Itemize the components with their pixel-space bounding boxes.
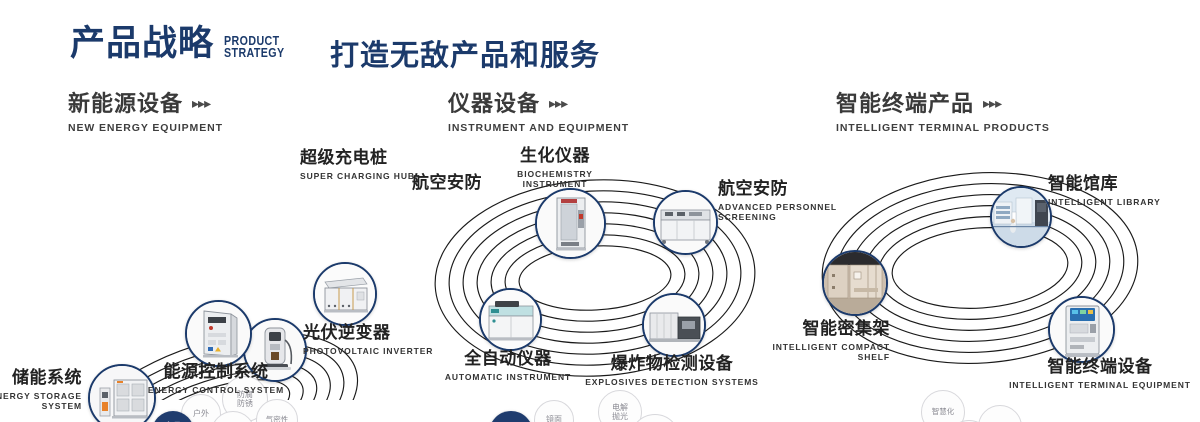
product-circle-compact-shelf[interactable] — [822, 250, 888, 316]
product-label-compact-shelf-en: INTELLIGENT COMPACT SHELF — [710, 342, 890, 363]
section-title-cn-text-3: 智能终端产品 — [836, 93, 974, 117]
feature-bubble-2-1: 镜面 — [534, 400, 574, 422]
explosives-detector-icon — [644, 295, 704, 355]
product-label-compact-shelf-en1: INTELLIGENT COMPACT — [710, 342, 890, 353]
page-title: 产品战略 — [70, 27, 214, 62]
section-title-cn-1: 新能源设备 ▸▸▸ — [68, 93, 223, 117]
section-title-cn-3: 智能终端产品 ▸▸▸ — [836, 93, 1050, 117]
product-label-energy-control-en: ENERGY CONTROL SYSTEM — [86, 385, 346, 396]
headline: 打造无敌产品和服务 — [330, 32, 600, 74]
control-cabinet-icon — [187, 302, 250, 365]
product-label-terminal-equipment: 智能终端设备 INTELLIGENT TERMINAL EQUIPMENT — [985, 358, 1200, 390]
product-label-energy-storage-en1: ENERGY STORAGE — [0, 391, 82, 402]
feature-bubble-1-2-line2: 防锈 — [237, 399, 253, 408]
biochemistry-instrument-icon — [537, 190, 604, 257]
feature-bubble-2-2-line2: 抛光 — [612, 412, 628, 421]
section-title-en-3: INTELLIGENT TERMINAL PRODUCTS — [836, 122, 1050, 134]
product-label-compact-shelf: 智能密集架 INTELLIGENT COMPACT SHELF — [710, 320, 890, 363]
product-label-intelligent-library-cn: 智能馆库 — [1048, 175, 1200, 195]
product-strategy-infographic: 产品战略 PRODUCT STRATEGY 打造无敌产品和服务 新能源设备 ▸▸… — [0, 0, 1200, 422]
product-label-compact-shelf-en2: SHELF — [710, 352, 890, 363]
chevrons-icon-3: ▸▸▸ — [983, 97, 1001, 112]
product-label-biochemistry-cn: 生化仪器 — [450, 147, 660, 167]
cluster-intelligent-terminal: 智慧化 数字化 人性化 产品 特点 — [790, 150, 1200, 400]
product-label-biochemistry-en1: BIOCHEMISTRY — [450, 169, 660, 180]
product-circle-pv-inverter[interactable] — [313, 262, 377, 326]
brand-lockup: 产品战略 PRODUCT STRATEGY — [70, 27, 298, 62]
section-header-instruments: 仪器设备 ▸▸▸ INSTRUMENT AND EQUIPMENT — [448, 93, 629, 134]
page-header: 产品战略 PRODUCT STRATEGY 打造无敌产品和服务 — [0, 0, 1200, 86]
product-circle-personnel-screening[interactable] — [653, 190, 718, 255]
section-header-intelligent-terminal: 智能终端产品 ▸▸▸ INTELLIGENT TERMINAL PRODUCTS — [836, 93, 1050, 134]
feature-bubble-2-2-line1: 电解 — [612, 403, 628, 412]
pv-inverter-icon — [315, 264, 375, 324]
library-room-icon — [992, 188, 1050, 246]
product-label-energy-control: 能源控制系统 ENERGY CONTROL SYSTEM — [86, 363, 346, 395]
feature-bubble-3-3: 人性化 — [978, 405, 1022, 422]
product-circle-intelligent-library[interactable] — [990, 186, 1052, 248]
product-label-compact-shelf-cn: 智能密集架 — [710, 320, 890, 340]
product-circle-energy-control[interactable] — [185, 300, 252, 367]
product-circle-explosives-detection[interactable] — [642, 293, 706, 357]
chevrons-icon-1: ▸▸▸ — [192, 97, 210, 112]
feature-bubble-1-1-text: 户外 — [193, 409, 209, 418]
product-label-terminal-equipment-cn: 智能终端设备 — [985, 358, 1200, 378]
product-label-energy-storage: 储能系统 ENERGY STORAGE SYSTEM — [0, 369, 82, 412]
core-badge-2: 产品 特点 — [489, 411, 533, 422]
brand-subtitle-line2: STRATEGY — [224, 47, 285, 59]
section-title-cn-2: 仪器设备 ▸▸▸ — [448, 93, 629, 117]
feature-bubble-3-1-text: 智慧化 — [932, 408, 955, 417]
personnel-screening-icon — [655, 192, 716, 253]
compact-shelf-icon — [824, 252, 886, 314]
product-label-biochemistry: 生化仪器 BIOCHEMISTRY INSTRUMENT — [450, 147, 660, 190]
section-title-en-2: INSTRUMENT AND EQUIPMENT — [448, 122, 629, 134]
section-title-cn-text-2: 仪器设备 — [448, 93, 540, 117]
product-circle-biochemistry[interactable] — [535, 188, 606, 259]
automatic-instrument-icon — [481, 290, 540, 349]
cluster-new-energy: 户外 防腐 防锈 防水 防尘 气密性 产品 特点 — [0, 150, 420, 400]
product-label-terminal-equipment-en: INTELLIGENT TERMINAL EQUIPMENT — [985, 380, 1200, 391]
section-title-cn-text-1: 新能源设备 — [68, 93, 183, 117]
product-label-energy-storage-cn: 储能系统 — [0, 369, 82, 389]
section-title-en-1: NEW ENERGY EQUIPMENT — [68, 122, 223, 134]
product-circle-terminal-equipment[interactable] — [1048, 296, 1115, 363]
product-label-biochemistry-en2: INSTRUMENT — [450, 179, 660, 190]
brand-subtitle: PRODUCT STRATEGY — [224, 35, 285, 62]
product-label-intelligent-library-en: INTELLIGENT LIBRARY — [1048, 197, 1200, 208]
chevrons-icon-2: ▸▸▸ — [549, 97, 567, 112]
product-label-explosives-detection-en: EXPLOSIVES DETECTION SYSTEMS — [562, 377, 782, 388]
section-header-new-energy: 新能源设备 ▸▸▸ NEW ENERGY EQUIPMENT — [68, 93, 223, 134]
product-circle-automatic-instrument[interactable] — [479, 288, 542, 351]
feature-bubble-1-4-text: 气密性 — [266, 416, 289, 422]
product-label-energy-storage-en: ENERGY STORAGE SYSTEM — [0, 391, 82, 412]
self-service-kiosk-icon — [1050, 298, 1113, 361]
product-label-intelligent-library: 智能馆库 INTELLIGENT LIBRARY — [1048, 175, 1200, 207]
product-label-energy-control-cn: 能源控制系统 — [86, 363, 346, 383]
product-label-energy-storage-en2: SYSTEM — [0, 401, 82, 412]
product-label-biochemistry-en: BIOCHEMISTRY INSTRUMENT — [450, 169, 660, 190]
feature-bubble-2-1-text: 镜面 — [546, 415, 562, 422]
